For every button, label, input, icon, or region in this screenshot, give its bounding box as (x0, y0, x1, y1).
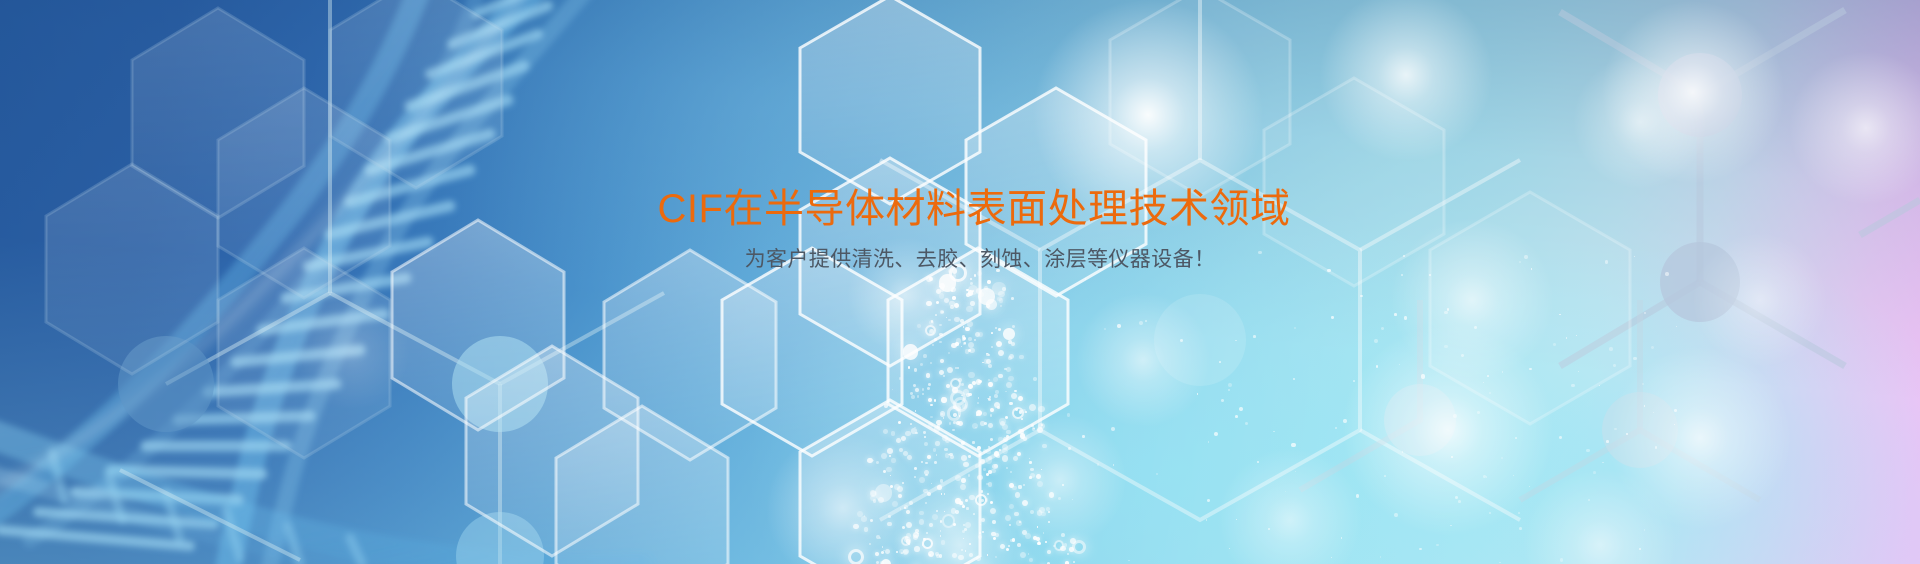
page-subtitle: 为客户提供清洗、去胶、刻蚀、涂层等仪器设备！ (0, 245, 1920, 275)
page-title: CIF在半导体材料表面处理技术领域 (0, 184, 1920, 234)
hero-copy: CIF在半导体材料表面处理技术领域 为客户提供清洗、去胶、刻蚀、涂层等仪器设备！ (0, 184, 1920, 275)
hero-banner: CIF在半导体材料表面处理技术领域 为客户提供清洗、去胶、刻蚀、涂层等仪器设备！ (0, 0, 1920, 564)
particle-burst-icon (0, 0, 1920, 564)
